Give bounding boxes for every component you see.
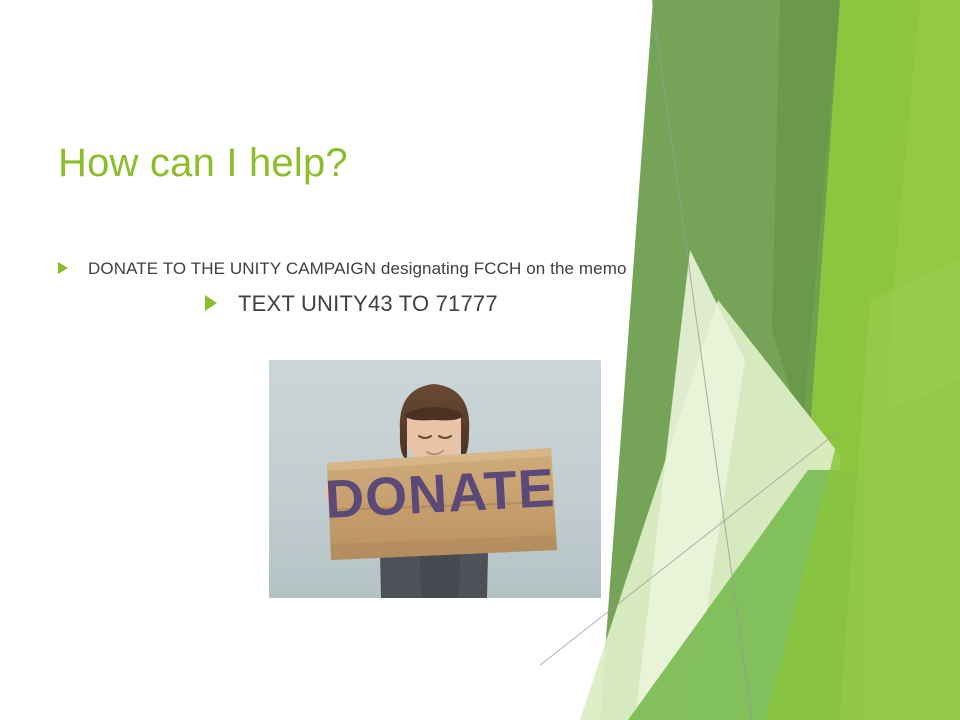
corner-graphic-svg [540, 0, 960, 720]
shape-dark-green-wedge [600, 0, 840, 720]
hairline-vertical [652, 0, 752, 720]
shape-mid-green-lower [628, 470, 870, 720]
shape-bright-green-lower [766, 380, 960, 720]
bullet-item-level1: DONATE TO THE UNITY CAMPAIGN designating… [58, 258, 648, 280]
donate-photo-svg: DONATE [269, 360, 601, 598]
shape-light-green-lower-right [840, 260, 960, 720]
page-title: How can I help? [58, 140, 658, 186]
shape-dark-green-sliver [772, 0, 840, 430]
shape-bright-green-right [772, 0, 960, 720]
green-angled-corner-graphic [540, 0, 960, 720]
photo-sign-text: DONATE [324, 458, 557, 530]
donate-photo: DONATE [269, 360, 601, 598]
bullet-item-level1-label: DONATE TO THE UNITY CAMPAIGN designating… [88, 258, 627, 280]
body-placeholder: DONATE TO THE UNITY CAMPAIGN designating… [58, 258, 648, 318]
shape-pale-green-tail [635, 250, 745, 720]
bullet-item-level2-label: TEXT UNITY43 TO 71777 [238, 290, 498, 318]
triangle-bullet-icon [58, 262, 68, 274]
bullet-item-level2: TEXT UNITY43 TO 71777 [205, 290, 648, 318]
slide-canvas: How can I help? DONATE TO THE UNITY CAMP… [0, 0, 960, 720]
triangle-bullet-icon [205, 295, 217, 311]
shape-pale-green-wedge [580, 300, 840, 720]
shape-light-green-band [870, 0, 960, 720]
